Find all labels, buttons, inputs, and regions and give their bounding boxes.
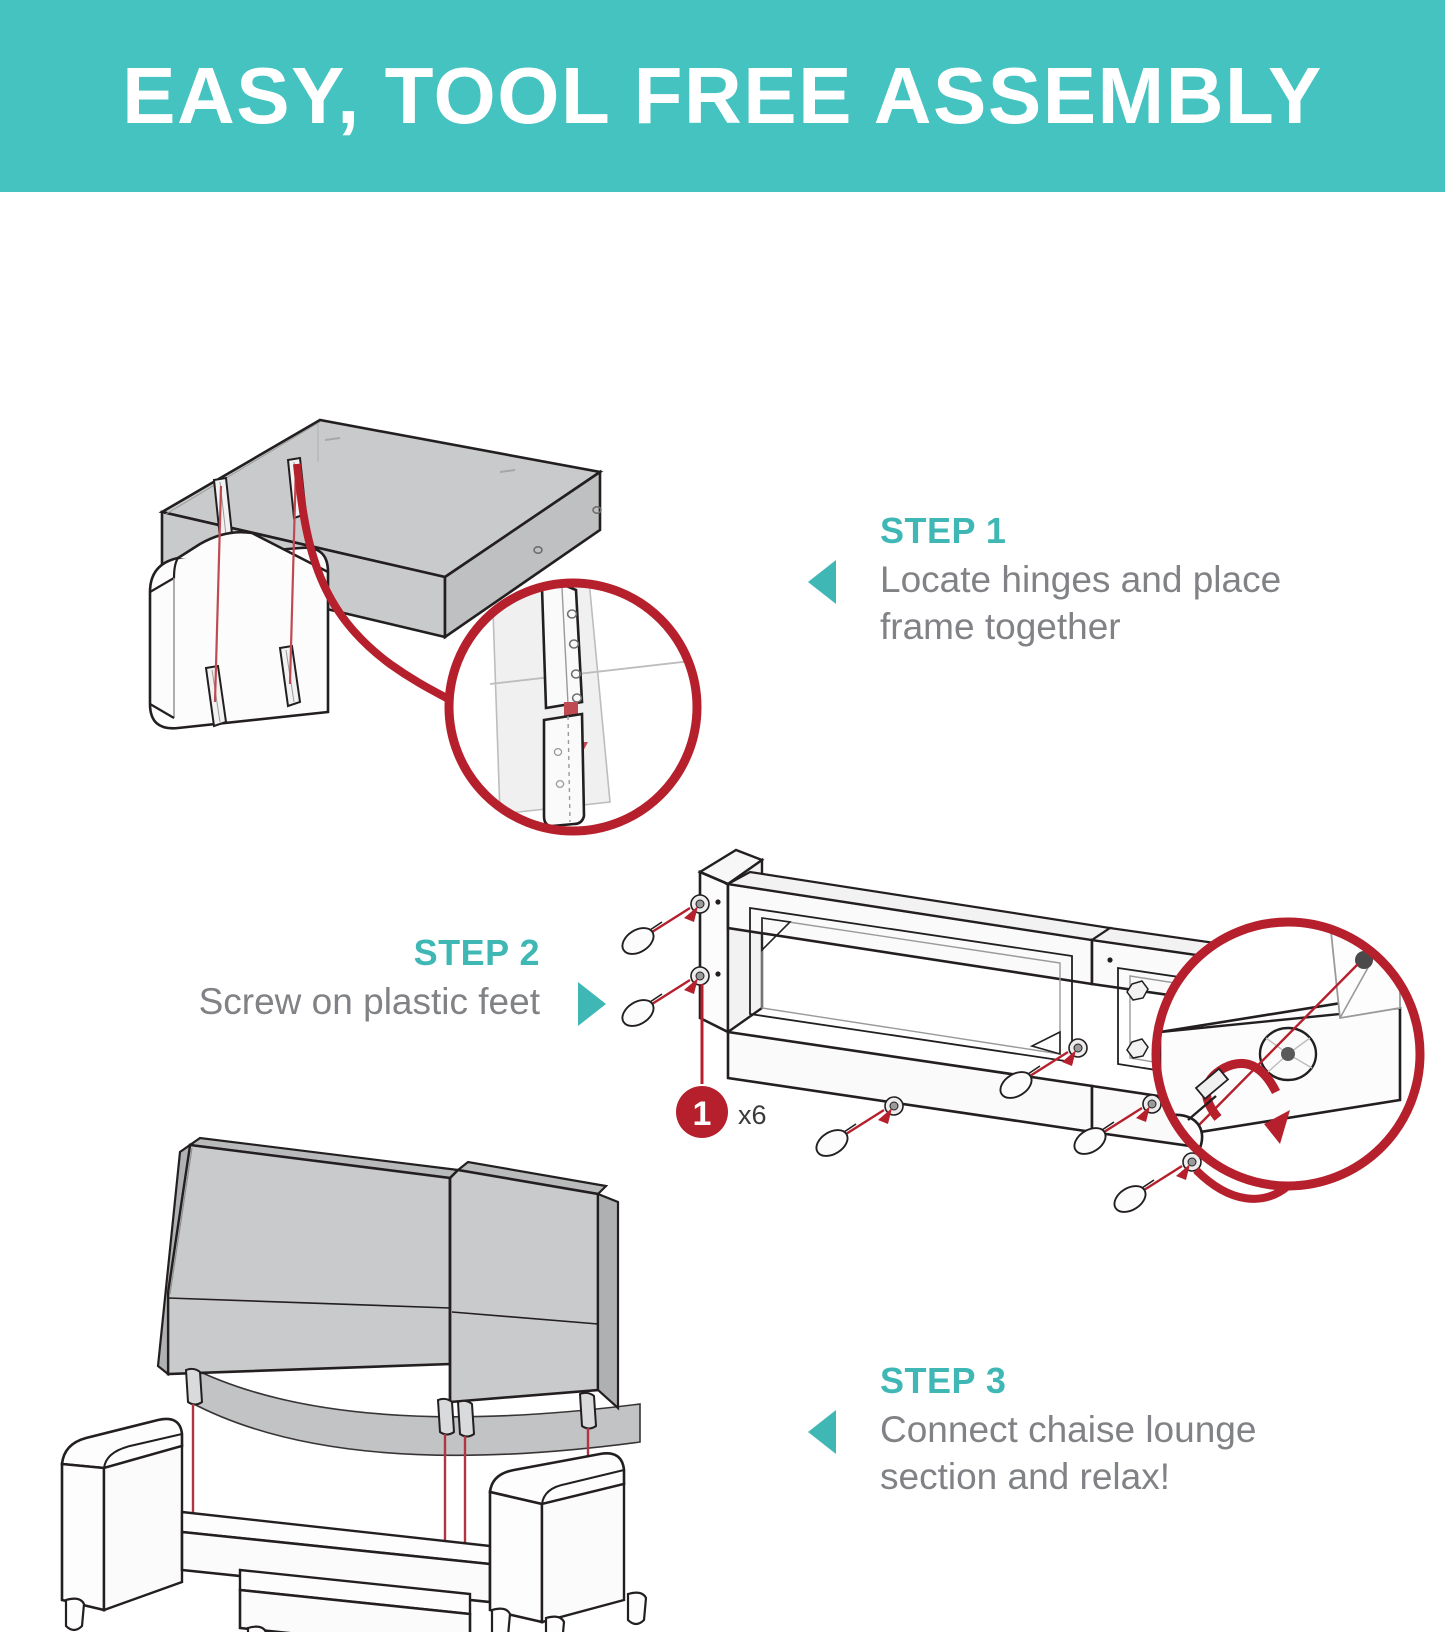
step-1-heading: STEP 1 (880, 510, 1380, 551)
step-3-illustration (40, 1112, 720, 1632)
step-1-illustration (140, 402, 740, 862)
step-2-description-line-1: Screw on plastic feet (199, 981, 540, 1022)
step-1-text-block: STEP 1 Locate hinges and place frame tog… (880, 510, 1380, 650)
content-area: 1 x6 (0, 192, 1445, 1445)
step-3-heading: STEP 3 (880, 1360, 1380, 1401)
step-3-description-line-1: Connect chaise lounge (880, 1409, 1256, 1450)
step-1-description: Locate hinges and place frame together (880, 557, 1380, 650)
badge-quantity: x6 (738, 1100, 767, 1130)
header-banner: EASY, TOOL FREE ASSEMBLY (0, 0, 1445, 192)
step-3-description: Connect chaise lounge section and relax! (880, 1407, 1380, 1500)
step-2-illustration: 1 x6 (640, 832, 1440, 1232)
sofa-frame-left-section (700, 850, 1110, 1132)
back-panel-cushion (150, 532, 328, 728)
step-2-text-block: STEP 2 Screw on plastic feet (90, 932, 540, 1026)
step-3-text-block: STEP 3 Connect chaise lounge section and… (880, 1360, 1380, 1500)
step-1-description-line-1: Locate hinges and place (880, 559, 1281, 600)
triangle-right-icon-step2 (578, 982, 606, 1026)
step-2-heading: STEP 2 (90, 932, 540, 973)
triangle-left-icon-step3 (808, 1410, 836, 1454)
step-1-description-line-2: frame together (880, 606, 1121, 647)
triangle-left-icon-step1 (808, 560, 836, 604)
step-3-description-line-2: section and relax! (880, 1456, 1170, 1497)
backrest-panel (158, 1138, 640, 1455)
step-2-description: Screw on plastic feet (90, 979, 540, 1025)
page-title: EASY, TOOL FREE ASSEMBLY (122, 56, 1323, 136)
